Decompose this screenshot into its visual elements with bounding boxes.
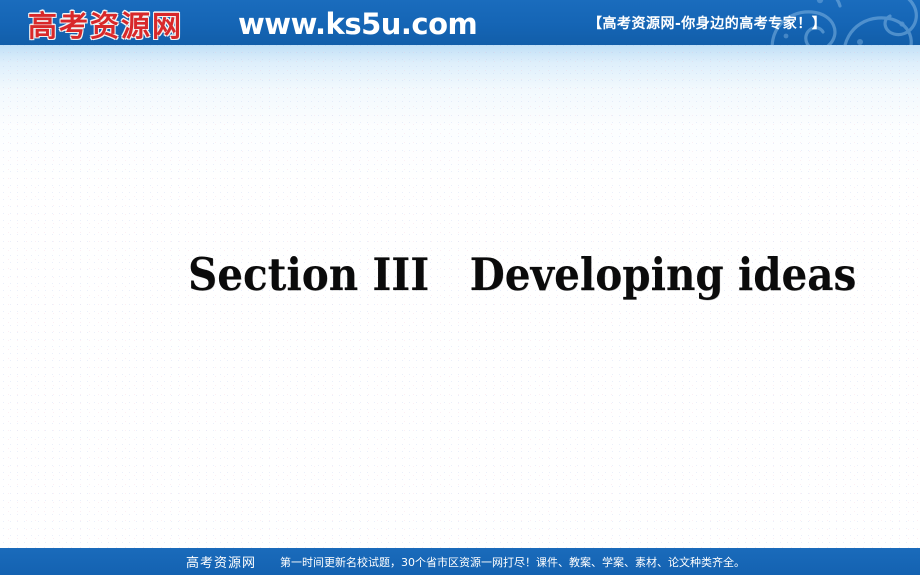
footer-logo-text[interactable]: 高考资源网 (186, 552, 256, 571)
footer-description: 第一时间更新名校试题，30个省市区资源一网打尽！课件、教案、学案、素材、论文种类… (280, 554, 745, 570)
site-footer-banner: 高考资源网 第一时间更新名校试题，30个省市区资源一网打尽！课件、教案、学案、素… (0, 548, 920, 575)
presentation-slide: 高考资源网 www.ks5u.com 【高考资源网-你身边的高考专家！】 Sec… (0, 0, 920, 575)
site-logo-text[interactable]: 高考资源网 (28, 3, 183, 45)
site-header-banner: 高考资源网 www.ks5u.com 【高考资源网-你身边的高考专家！】 (0, 0, 920, 45)
slide-background-wash (0, 45, 920, 575)
site-tagline: 【高考资源网-你身边的高考专家！】 (588, 13, 826, 33)
page-title: Section III Developing ideas (188, 238, 856, 303)
site-url-text[interactable]: www.ks5u.com (238, 7, 477, 41)
footer-content: 高考资源网 第一时间更新名校试题，30个省市区资源一网打尽！课件、教案、学案、素… (186, 548, 745, 575)
